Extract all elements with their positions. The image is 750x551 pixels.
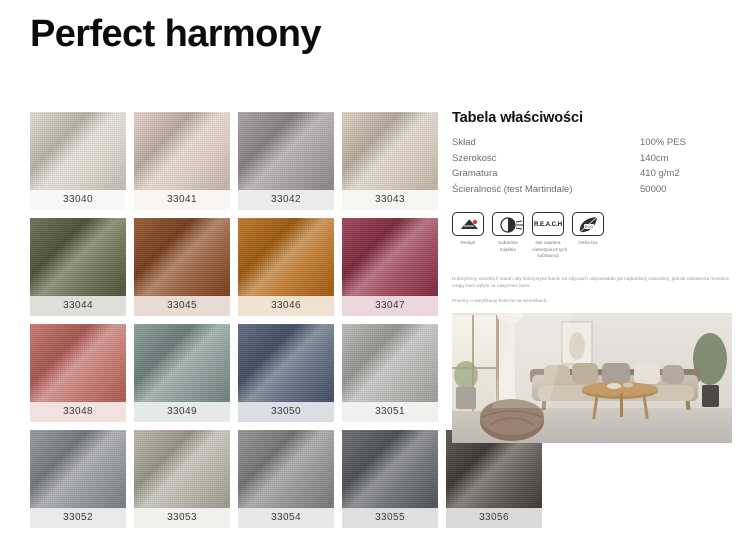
- swatch-vignette: [134, 112, 230, 190]
- swatch-row: 33040330413304233043: [30, 112, 442, 210]
- interior-photo-illustration: [452, 313, 732, 443]
- info-column: Tabela właściwości Skład100% PESSzerokoś…: [452, 110, 732, 443]
- swatch-vignette: [342, 430, 438, 508]
- swatch-code-label: 33043: [342, 190, 438, 210]
- reach-icon: R.E.A.C.H: [532, 212, 564, 236]
- swatch-33040[interactable]: 33040: [30, 112, 126, 210]
- swatch-vignette: [238, 218, 334, 296]
- disclaimer: Dołożyliśmy wszelkich starań aby kolorys…: [452, 275, 732, 304]
- property-value: 140cm: [640, 153, 732, 169]
- swatch-vignette: [30, 324, 126, 402]
- badge-caption: Design: [452, 240, 484, 247]
- swatch-fabric-image: [134, 324, 230, 402]
- fabric-collection-page: Perfect harmony 330403304133042330433304…: [0, 0, 750, 551]
- swatch-fabric-image: [30, 430, 126, 508]
- disclaimer-paragraph-1: Dołożyliśmy wszelkich starań aby kolorys…: [452, 275, 732, 290]
- swatch-code-label: 33045: [134, 296, 230, 316]
- swatch-33042[interactable]: 33042: [238, 112, 334, 210]
- swatch-row: 33048330493305033051: [30, 324, 442, 422]
- badge-oeko-tex-leaf-icon: ECOOeko-tex: [572, 212, 604, 260]
- swatch-vignette: [342, 324, 438, 402]
- swatch-vignette: [30, 430, 126, 508]
- swatch-33054[interactable]: 33054: [238, 430, 334, 528]
- swatch-fabric-image: [134, 218, 230, 296]
- swatch-code-label: 33048: [30, 402, 126, 422]
- swatch-vignette: [238, 112, 334, 190]
- properties-title: Tabela właściwości: [452, 110, 732, 126]
- badge-caption: Subtelnie miękkie: [492, 240, 524, 253]
- swatch-33046[interactable]: 33046: [238, 218, 334, 316]
- swatch-code-label: 33055: [342, 508, 438, 528]
- swatch-vignette: [342, 218, 438, 296]
- badge-design-icon: Design: [452, 212, 484, 260]
- swatch-fabric-image: [238, 218, 334, 296]
- swatch-33044[interactable]: 33044: [30, 218, 126, 316]
- property-row: Ścieralność (test Martindale)50000: [452, 184, 732, 200]
- swatch-33041[interactable]: 33041: [134, 112, 230, 210]
- swatch-vignette: [134, 324, 230, 402]
- swatch-code-label: 33041: [134, 190, 230, 210]
- swatch-33045[interactable]: 33045: [134, 218, 230, 316]
- swatch-code-label: 33047: [342, 296, 438, 316]
- badge-caption: Nie zawiera niebezpiecznych substancji: [532, 240, 564, 260]
- badge-caption: Oeko-tex: [572, 240, 604, 247]
- swatch-grid: 3304033041330423304333044330453304633047…: [30, 112, 442, 536]
- interior-photo: [452, 313, 732, 443]
- property-label: Skład: [452, 137, 640, 153]
- property-label: Gramatura: [452, 168, 640, 184]
- swatch-row: 3305233053330543305533056: [30, 430, 550, 528]
- swatch-vignette: [134, 430, 230, 508]
- swatch-33053[interactable]: 33053: [134, 430, 230, 528]
- swatch-fabric-image: [134, 112, 230, 190]
- swatch-vignette: [238, 324, 334, 402]
- swatch-code-label: 33054: [238, 508, 334, 528]
- property-label: Szerokość: [452, 153, 640, 169]
- swatch-fabric-image: [30, 112, 126, 190]
- swatch-fabric-image: [238, 430, 334, 508]
- swatch-code-label: 33053: [134, 508, 230, 528]
- swatch-33050[interactable]: 33050: [238, 324, 334, 422]
- property-value: 410 g/m2: [640, 168, 732, 184]
- swatch-code-label: 33051: [342, 402, 438, 422]
- properties-table: Skład100% PESSzerokość140cmGramatura410 …: [452, 137, 732, 199]
- swatch-code-label: 33044: [30, 296, 126, 316]
- badge-reach-icon: R.E.A.C.HNie zawiera niebezpiecznych sub…: [532, 212, 564, 260]
- swatch-code-label: 33049: [134, 402, 230, 422]
- swatch-fabric-image: [342, 430, 438, 508]
- swatch-33056[interactable]: 33056: [446, 430, 542, 528]
- swatch-33049[interactable]: 33049: [134, 324, 230, 422]
- svg-text:ECO: ECO: [585, 224, 594, 229]
- property-value: 50000: [640, 184, 732, 200]
- swatch-33047[interactable]: 33047: [342, 218, 438, 316]
- swatch-code-label: 33050: [238, 402, 334, 422]
- swatch-33043[interactable]: 33043: [342, 112, 438, 210]
- design-icon: [452, 212, 484, 236]
- properties-table-body: Skład100% PESSzerokość140cmGramatura410 …: [452, 137, 732, 199]
- certification-badges: DesignSubtelnie miękkieR.E.A.C.HNie zawi…: [452, 212, 732, 260]
- disclaimer-paragraph-2: Prosimy o weryfikację kolorów na wzornik…: [452, 297, 732, 304]
- property-row: Gramatura410 g/m2: [452, 168, 732, 184]
- badge-softness-icon: Subtelnie miękkie: [492, 212, 524, 260]
- swatch-code-label: 33056: [446, 508, 542, 528]
- softness-icon: [492, 212, 524, 236]
- swatch-code-label: 33040: [30, 190, 126, 210]
- swatch-33052[interactable]: 33052: [30, 430, 126, 528]
- swatch-row: 33044330453304633047: [30, 218, 442, 316]
- swatch-33055[interactable]: 33055: [342, 430, 438, 528]
- swatch-fabric-image: [342, 324, 438, 402]
- swatch-fabric-image: [342, 218, 438, 296]
- swatch-vignette: [30, 218, 126, 296]
- swatch-vignette: [238, 430, 334, 508]
- swatch-fabric-image: [30, 324, 126, 402]
- swatch-33051[interactable]: 33051: [342, 324, 438, 422]
- oeko-tex-leaf-icon: ECO: [572, 212, 604, 236]
- swatch-code-label: 33046: [238, 296, 334, 316]
- swatch-fabric-image: [342, 112, 438, 190]
- swatch-fabric-image: [30, 218, 126, 296]
- swatch-vignette: [342, 112, 438, 190]
- swatch-fabric-image: [238, 112, 334, 190]
- swatch-code-label: 33042: [238, 190, 334, 210]
- swatch-fabric-image: [238, 324, 334, 402]
- property-label: Ścieralność (test Martindale): [452, 184, 640, 200]
- reach-label: R.E.A.C.H: [533, 213, 563, 235]
- swatch-vignette: [30, 112, 126, 190]
- swatch-code-label: 33052: [30, 508, 126, 528]
- page-title: Perfect harmony: [30, 14, 321, 56]
- swatch-fabric-image: [134, 430, 230, 508]
- property-row: Szerokość140cm: [452, 153, 732, 169]
- swatch-33048[interactable]: 33048: [30, 324, 126, 422]
- property-value: 100% PES: [640, 137, 732, 153]
- swatch-vignette: [134, 218, 230, 296]
- property-row: Skład100% PES: [452, 137, 732, 153]
